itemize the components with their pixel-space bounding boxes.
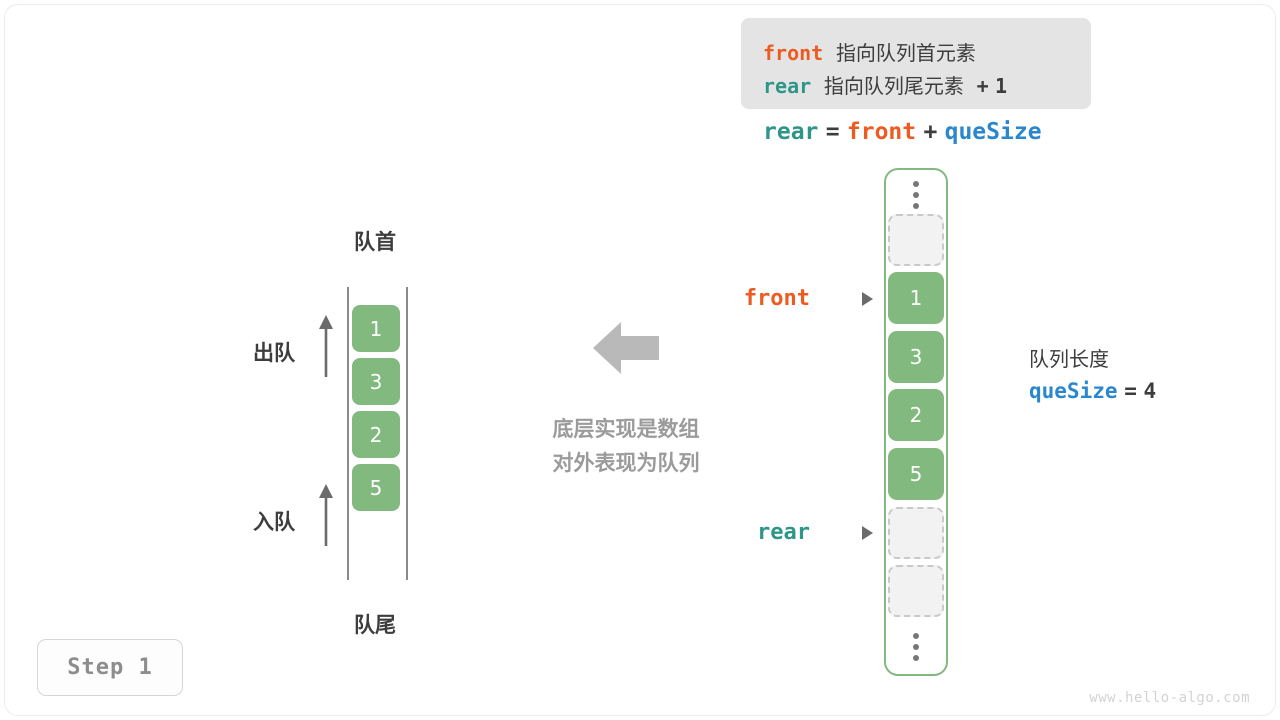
formula-rear-equals-front-plus-quesize: rear = front + queSize [763, 119, 1042, 145]
center-caption-line2: 对外表现为队列 [520, 446, 732, 480]
formula-quesize: queSize [945, 119, 1042, 145]
queue-item: 2 [352, 411, 400, 458]
pointer-label-rear: rear [700, 520, 810, 545]
array-cell-filled: 5 [888, 448, 944, 500]
formula-rear: rear [763, 119, 818, 145]
diagram-canvas: front 指向队列首元素 rear 指向队列尾元素 + 1 rear = fr… [0, 0, 1280, 720]
legend-text-rear: 指向队列尾元素 [824, 74, 964, 98]
legend-box: front 指向队列首元素 rear 指向队列尾元素 + 1 [741, 18, 1091, 109]
left-arrow-icon [593, 320, 659, 376]
formula-front: front [847, 119, 916, 145]
array-cell-filled: 3 [888, 331, 944, 383]
pointer-arrowhead-rear-icon [862, 526, 873, 540]
watermark: www.hello-algo.com [1089, 690, 1250, 706]
queue-item: 1 [352, 305, 400, 352]
center-caption: 底层实现是数组 对外表现为队列 [520, 412, 732, 480]
pointer-arrowhead-front-icon [862, 292, 873, 306]
dequeue-up-arrow-icon [316, 315, 336, 377]
step-badge: Step 1 [37, 639, 183, 696]
formula-equals: = [826, 119, 840, 145]
quesize-equals: = [1124, 379, 1137, 403]
array-cell-empty [888, 214, 944, 266]
legend-line-front: front 指向队列首元素 [763, 37, 976, 66]
pointer-label-front: front [700, 286, 810, 311]
legend-term-front: front [763, 41, 823, 65]
array-cell-filled: 1 [888, 272, 944, 324]
legend-term-rear: rear [763, 74, 811, 98]
array-cell-empty [888, 565, 944, 617]
legend-rear-one: 1 [995, 74, 1007, 98]
ellipsis-icon-top [888, 178, 944, 212]
queue-head-label: 队首 [345, 226, 405, 256]
quesize-note-title: 队列长度 [1029, 343, 1109, 372]
ellipsis-icon-bottom [888, 630, 944, 664]
legend-text-front: 指向队列首元素 [836, 41, 976, 65]
formula-plus: + [923, 119, 937, 145]
enqueue-label: 入队 [253, 506, 295, 536]
queue-item: 3 [352, 358, 400, 405]
quesize-var: queSize [1029, 379, 1118, 403]
legend-rear-plus: + [977, 74, 989, 98]
quesize-number: 4 [1144, 379, 1157, 403]
array-cell-filled: 2 [888, 389, 944, 441]
queue-channel-right-line [406, 287, 408, 580]
quesize-note-value: queSize = 4 [1029, 379, 1156, 403]
queue-tail-label: 队尾 [345, 609, 405, 639]
legend-line-rear: rear 指向队列尾元素 + 1 [763, 70, 1007, 99]
enqueue-up-arrow-icon [316, 484, 336, 546]
center-caption-line1: 底层实现是数组 [520, 412, 732, 446]
array-cell-empty [888, 507, 944, 559]
queue-item: 5 [352, 464, 400, 511]
queue-channel-left-line [347, 287, 349, 580]
dequeue-label: 出队 [253, 337, 295, 367]
